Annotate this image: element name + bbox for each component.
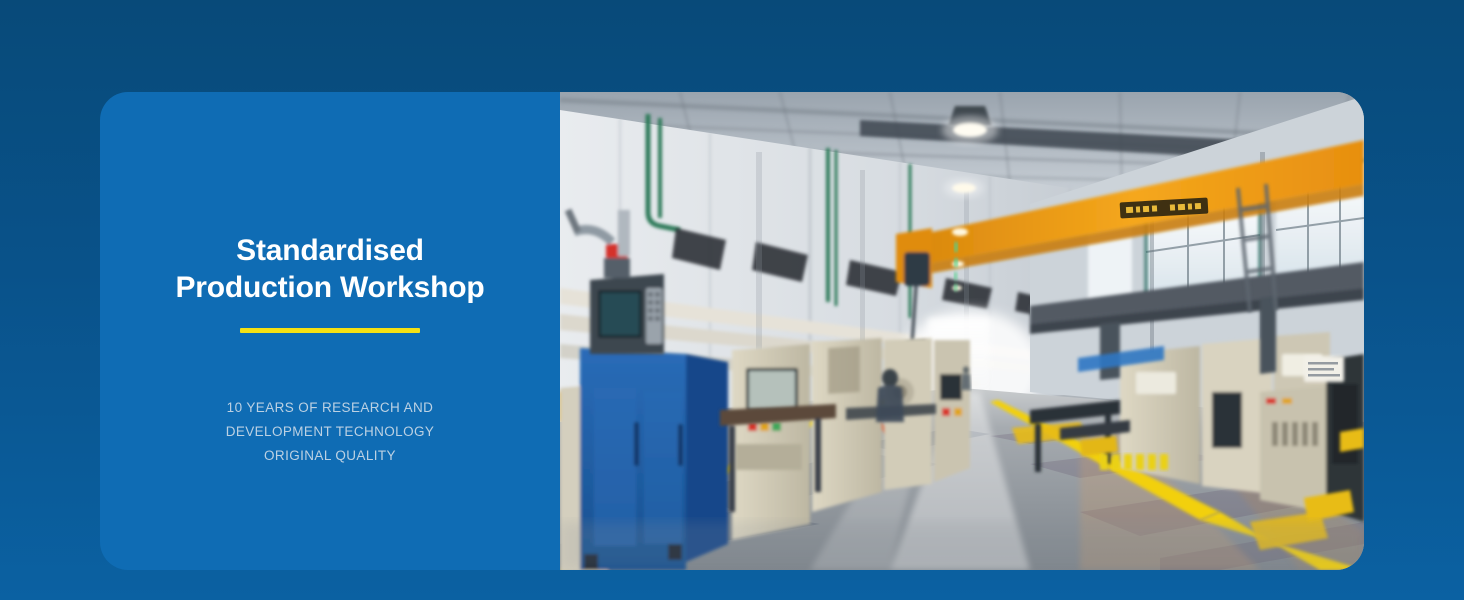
subtitle-text: 10 YEARS OF RESEARCH AND DEVELOPMENT TEC… xyxy=(226,396,435,468)
title-divider xyxy=(240,328,420,333)
page-title: Standardised Production Workshop xyxy=(176,232,485,306)
info-card-content: Standardised Production Workshop 10 YEAR… xyxy=(100,92,560,570)
promo-banner: Standardised Production Workshop 10 YEAR… xyxy=(0,0,1464,600)
workshop-photo xyxy=(560,92,1364,570)
